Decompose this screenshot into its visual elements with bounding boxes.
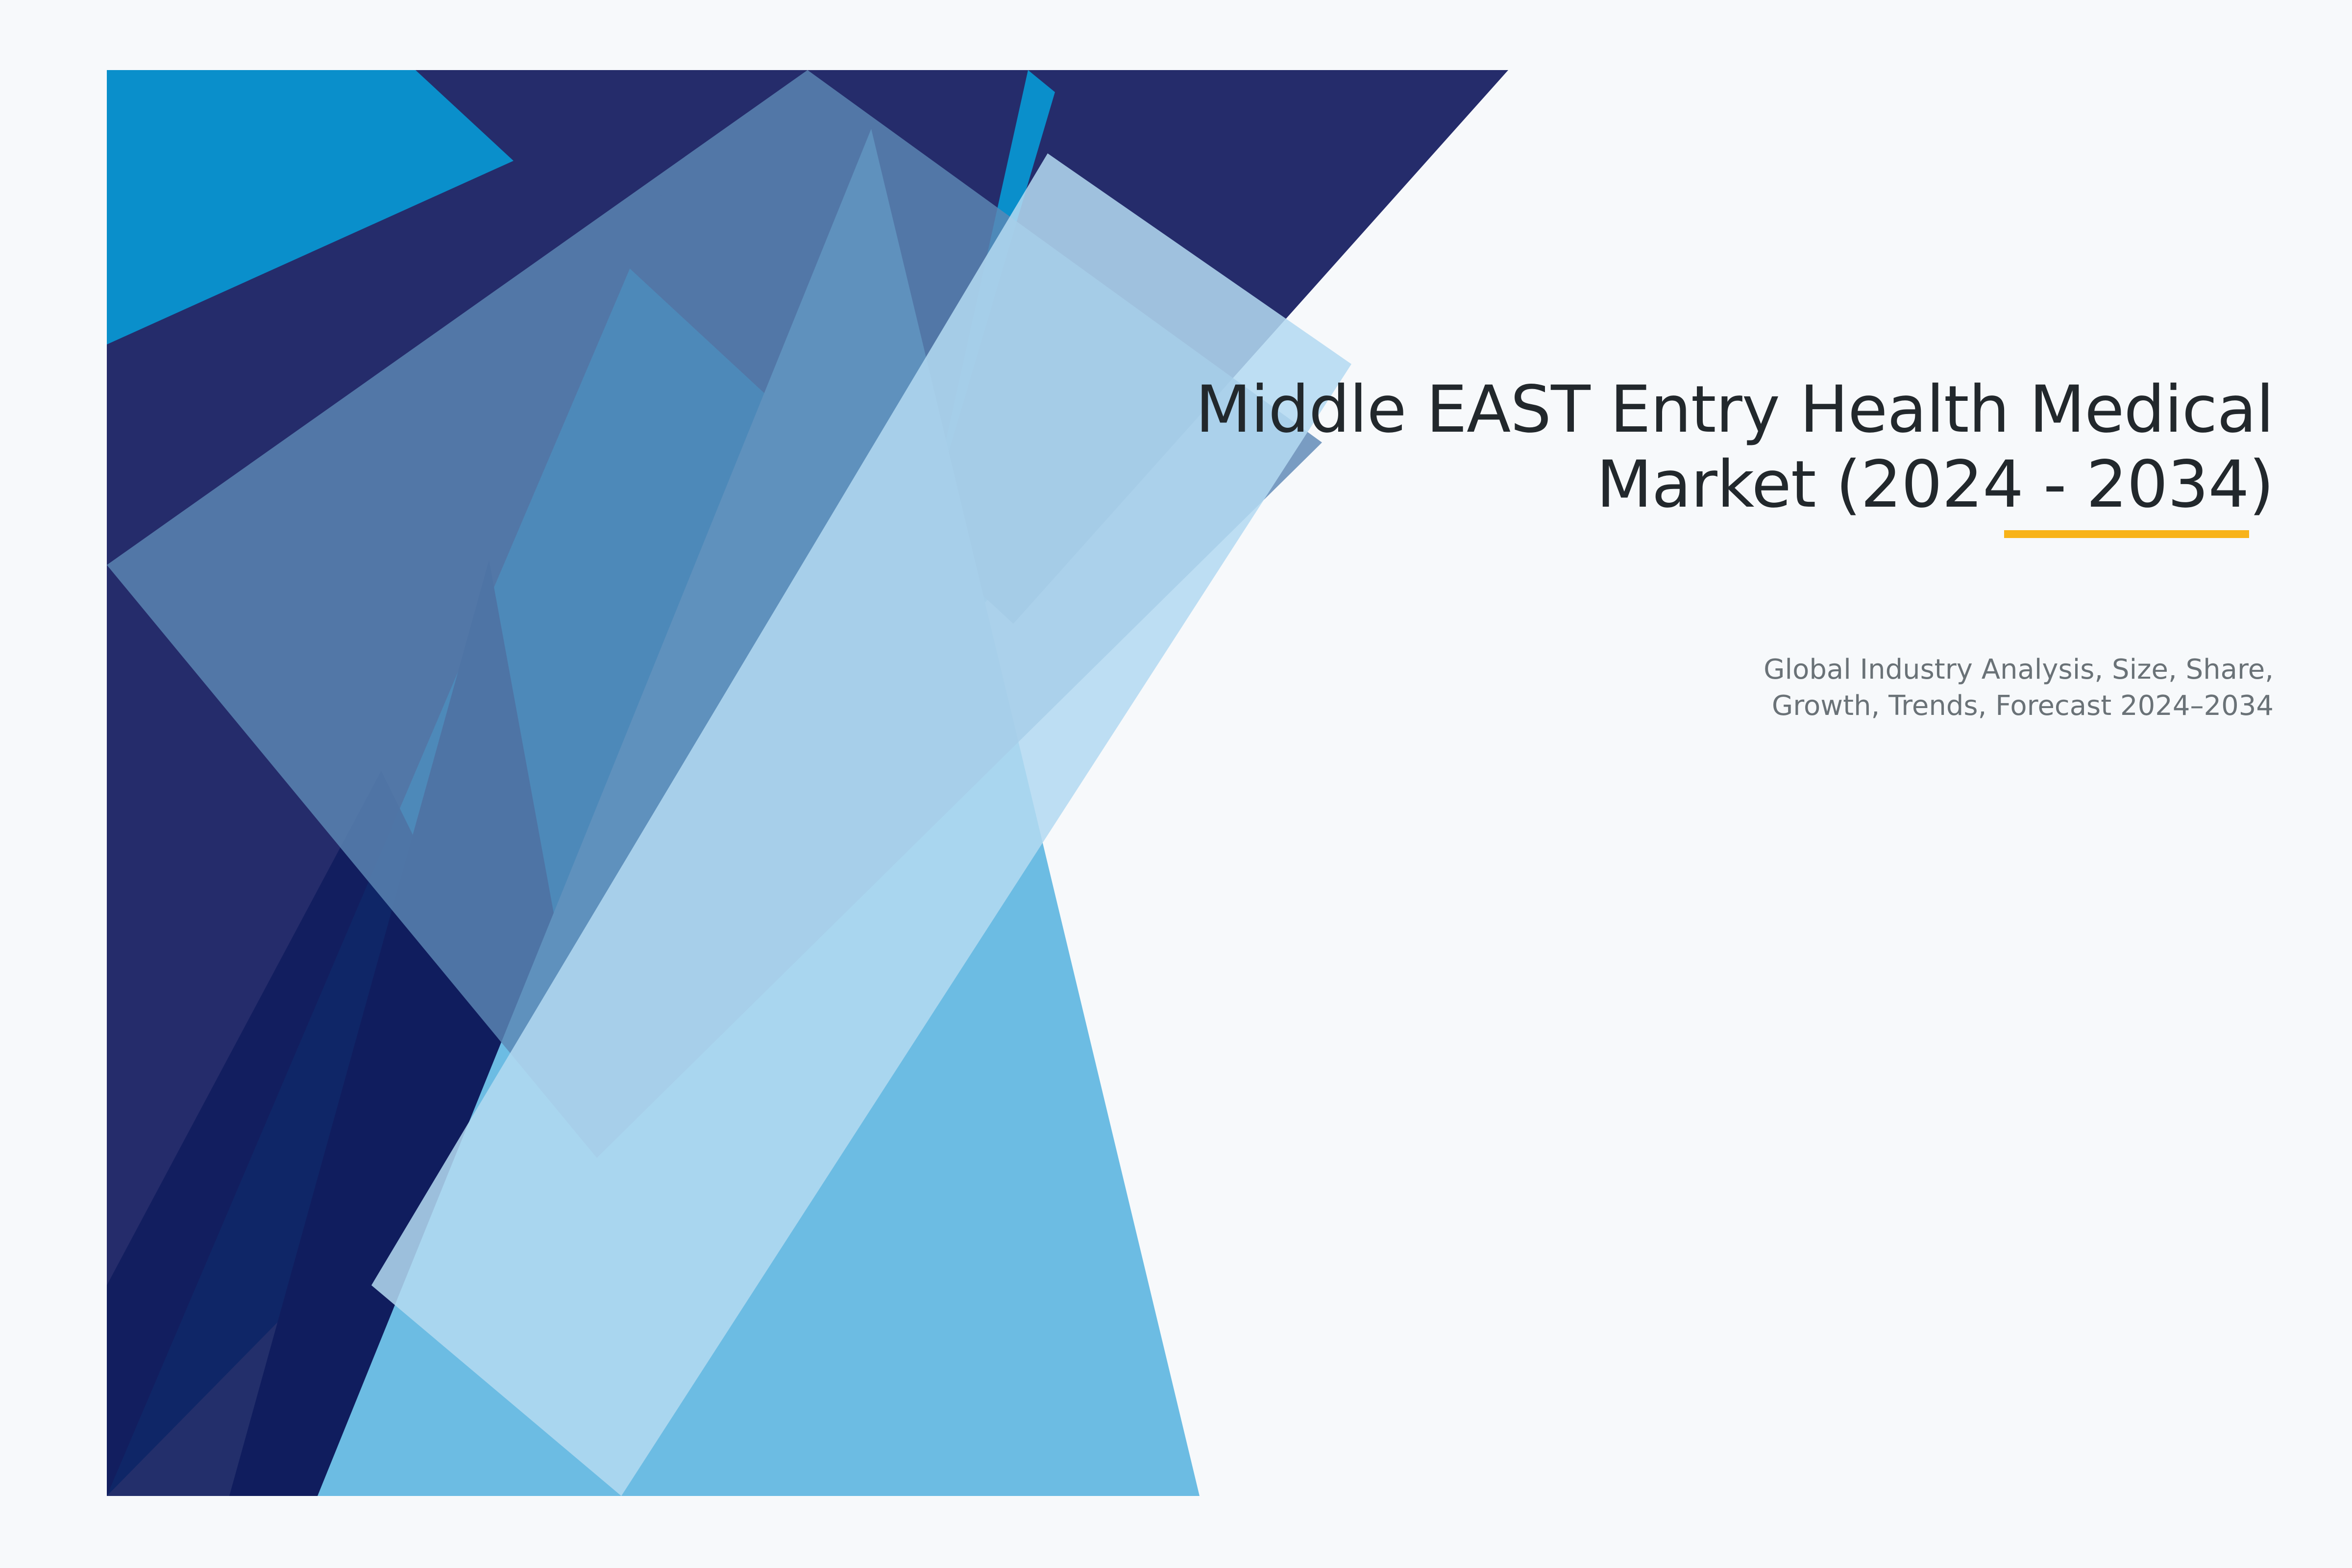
report-cover: Middle EAST Entry Health Medical Market … [0, 0, 2352, 1568]
title-block: Middle EAST Entry Health Medical Market … [931, 372, 2274, 522]
title-highlight-rule [2004, 530, 2249, 538]
page-title: Middle EAST Entry Health Medical Market … [931, 372, 2274, 522]
cover-artwork [107, 70, 1508, 1496]
subtitle-block: Global Industry Analysis, Size, Share, G… [1421, 652, 2274, 725]
page-subtitle: Global Industry Analysis, Size, Share, G… [1421, 652, 2274, 725]
abstract-geometric-polygons [107, 70, 1508, 1496]
